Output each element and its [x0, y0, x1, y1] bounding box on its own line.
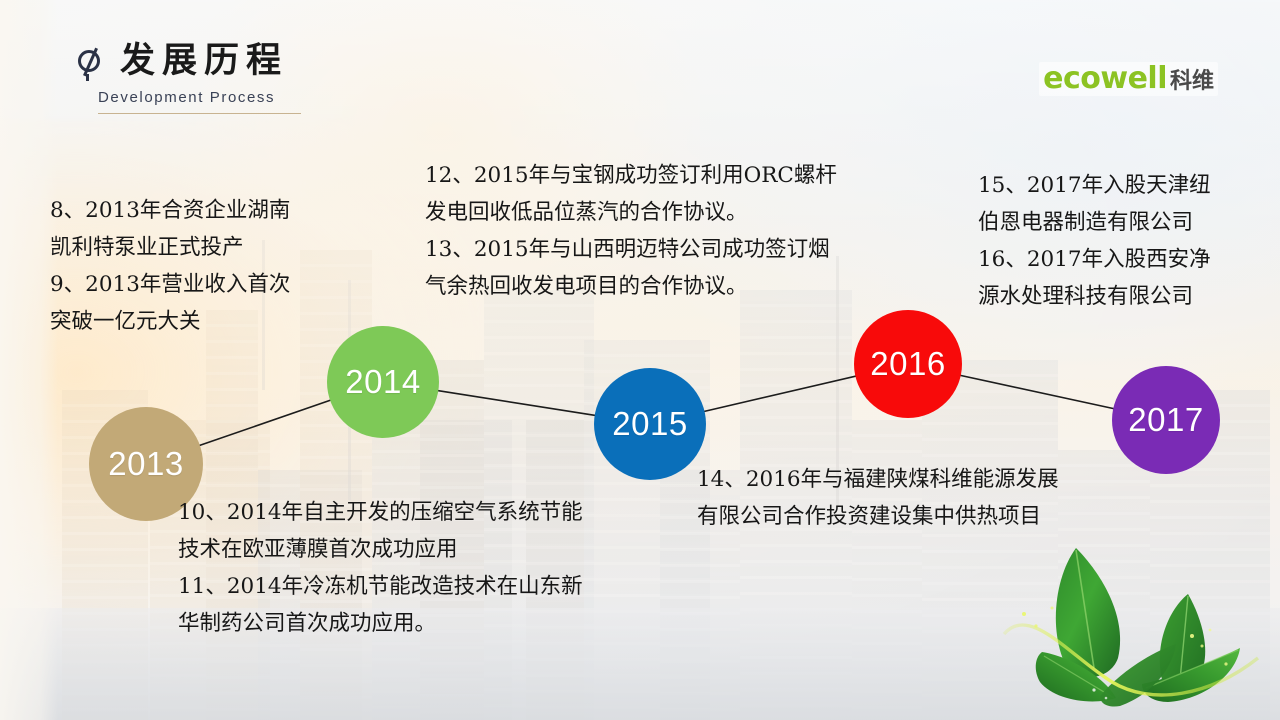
block-2013: 8、2013年合资企业湖南凯利特泵业正式投产9、2013年营业收入首次突破一亿元…: [50, 193, 380, 341]
content-line: 发电回收低品位蒸汽的合作协议。: [425, 195, 945, 232]
green-leaves-icon: [996, 530, 1266, 720]
timeline-node-year-label: 2015: [612, 405, 687, 443]
content-line: 伯恩电器制造有限公司: [978, 205, 1268, 242]
timeline-node-2015[interactable]: 2015: [594, 368, 706, 480]
slide-canvas: 发展历程 Development Process ecowell 科维 2013…: [0, 0, 1280, 720]
content-line: 华制药公司首次成功应用。: [178, 606, 708, 643]
content-line: 15、2017年入股天津纽: [978, 168, 1268, 205]
content-line: 9、2013年营业收入首次: [50, 267, 380, 304]
timeline-node-2017[interactable]: 2017: [1112, 366, 1220, 474]
content-line: 10、2014年自主开发的压缩空气系统节能: [178, 495, 708, 532]
content-line: 气余热回收发电项目的合作协议。: [425, 269, 945, 306]
timeline-node-year-label: 2016: [870, 345, 945, 383]
timeline-node-2014[interactable]: 2014: [327, 326, 439, 438]
content-line: 14、2016年与福建陕煤科维能源发展: [697, 462, 1167, 499]
timeline-node-year-label: 2014: [345, 363, 420, 401]
block-2017: 15、2017年入股天津纽伯恩电器制造有限公司16、2017年入股西安净源水处理…: [978, 168, 1268, 316]
block-2014: 10、2014年自主开发的压缩空气系统节能技术在欧亚薄膜首次成功应用11、201…: [178, 495, 708, 643]
timeline-connector-line: [196, 399, 334, 447]
timeline-connector-line: [957, 375, 1117, 410]
content-line: 13、2015年与山西明迈特公司成功签订烟: [425, 232, 945, 269]
timeline-node-2016[interactable]: 2016: [854, 310, 962, 418]
content-line: 源水处理科技有限公司: [978, 279, 1268, 316]
content-line: 11、2014年冷冻机节能改造技术在山东新: [178, 569, 708, 606]
content-line: 凯利特泵业正式投产: [50, 230, 380, 267]
timeline-connector-line: [434, 390, 598, 416]
timeline-node-year-label: 2013: [108, 445, 183, 483]
block-2015: 12、2015年与宝钢成功签订利用ORC螺杆发电回收低品位蒸汽的合作协议。13、…: [425, 158, 945, 306]
timeline-connector-line: [701, 375, 860, 412]
content-line: 12、2015年与宝钢成功签订利用ORC螺杆: [425, 158, 945, 195]
content-line: 16、2017年入股西安净: [978, 242, 1268, 279]
content-line: 8、2013年合资企业湖南: [50, 193, 380, 230]
content-line: 突破一亿元大关: [50, 304, 380, 341]
timeline-node-year-label: 2017: [1128, 401, 1203, 439]
content-line: 技术在欧亚薄膜首次成功应用: [178, 532, 708, 569]
block-2016: 14、2016年与福建陕煤科维能源发展有限公司合作投资建设集中供热项目: [697, 462, 1167, 536]
